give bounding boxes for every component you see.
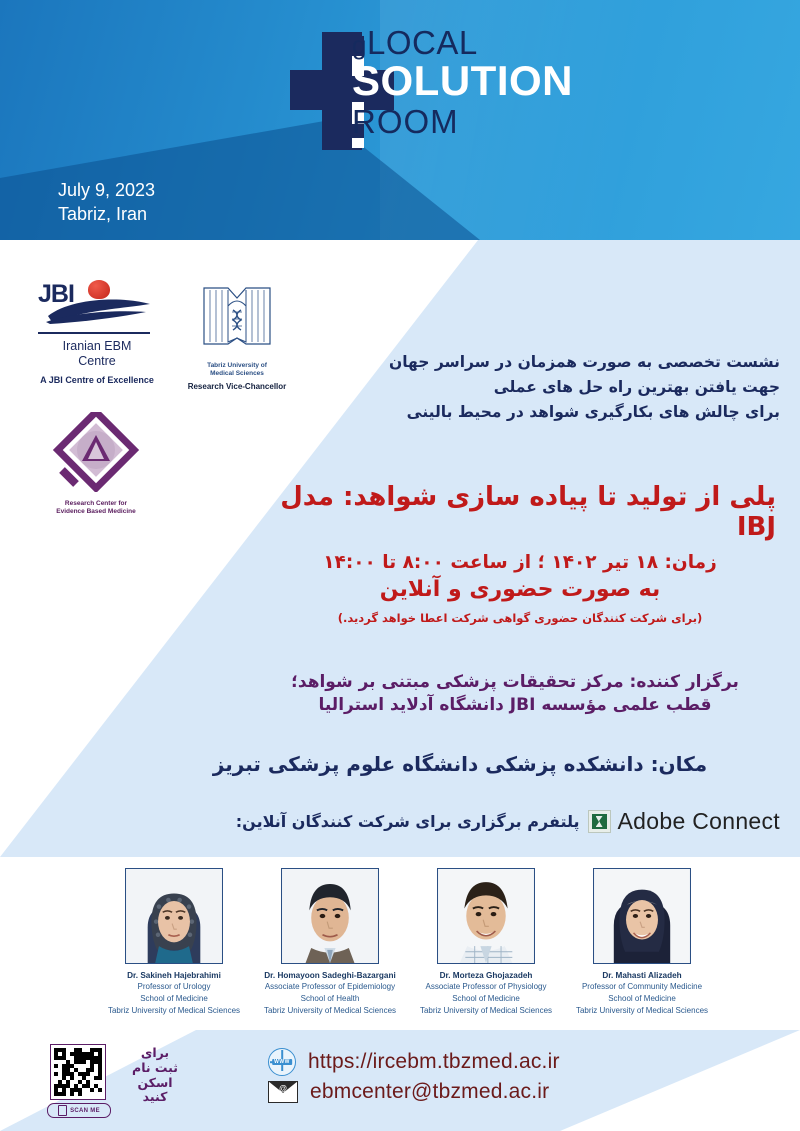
header-event-meta: July 9, 2023 Tabriz, Iran [58, 178, 155, 227]
speaker-card: Dr. Sakineh Hajebrahimi Professor of Uro… [98, 868, 250, 1030]
avatar [281, 868, 379, 964]
event-date: July 9, 2023 [58, 178, 155, 202]
scan-me-label: SCAN ME [70, 1108, 100, 1114]
intro-paragraph: نشست تخصصی به صورت همزمان در سراسر جهان … [310, 350, 780, 425]
avatar [593, 868, 691, 964]
event-title: پلی از تولید تا پیاده سازی شواهد: مدل JB… [236, 482, 776, 542]
speaker-card: Dr. Homayoon Sadeghi-Bazargani Associate… [254, 868, 406, 1030]
speaker-role: Associate Professor of Epidemiology [254, 981, 406, 993]
speaker-university: Tabriz University of Medical Sciences [566, 1005, 718, 1017]
speaker-name: Dr. Homayoon Sadeghi-Bazargani [254, 971, 406, 980]
website-row[interactable]: WWW https://ircebm.tbzmed.ac.ir [268, 1048, 560, 1076]
speaker-school: School of Medicine [566, 993, 718, 1005]
speaker-card: Dr. Morteza Ghojazadeh Associate Profess… [410, 868, 562, 1030]
wordmark-solution: SOLUTION [352, 60, 652, 102]
platform-block: Adobe Connect پلتفرم برگزاری برای شرکت ک… [200, 808, 780, 835]
qr-registration-block[interactable]: SCAN ME برای ثبت نام اسکن کنید [50, 1044, 230, 1122]
email-address[interactable]: ebmcenter@tbzmed.ac.ir [310, 1080, 549, 1104]
wordmark-g: g [352, 30, 367, 60]
speaker-school: School of Health [254, 993, 406, 1005]
avatar [437, 868, 535, 964]
envelope-email-icon: @ [268, 1081, 298, 1103]
event-datetime-block: زمان: ۱۸ تیر ۱۴۰۲ ؛ از ساعت ۸:۰۰ تا ۱۴:۰… [260, 552, 780, 625]
event-location: Tabriz, Iran [58, 202, 155, 226]
speaker-role: Professor of Urology [98, 981, 250, 993]
scan-me-badge: SCAN ME [47, 1103, 111, 1118]
organizer-block: برگزار کننده: مرکز تحقیقات پزشکی مبتنی ب… [250, 672, 780, 715]
email-row[interactable]: @ ebmcenter@tbzmed.ac.ir [268, 1080, 560, 1104]
qr-text-line-1: برای [119, 1046, 191, 1061]
speaker-name: Dr. Sakineh Hajebrahimi [98, 971, 250, 980]
certificate-note: (برای شرکت کنندگان حضوری گواهی شرکت اعطا… [260, 611, 780, 625]
qr-text-line-4: کنید [119, 1090, 191, 1105]
poster-root: gLOCAL SOLUTION ROOM July 9, 2023 Tabriz… [0, 0, 800, 1131]
poster-footer: SCAN ME برای ثبت نام اسکن کنید WWW https… [0, 1030, 800, 1131]
event-mode-line: به صورت حضوری و آنلاین [260, 577, 780, 602]
email-at-label: @ [279, 1084, 287, 1093]
speaker-card: Dr. Mahasti Alizadeh Professor of Commun… [566, 868, 718, 1030]
speaker-school: School of Medicine [98, 993, 250, 1005]
wordmark-room: ROOM [352, 105, 652, 138]
speaker-name: Dr. Mahasti Alizadeh [566, 971, 718, 980]
speaker-university: Tabriz University of Medical Sciences [98, 1005, 250, 1017]
globe-label: WWW [272, 1059, 292, 1065]
website-url[interactable]: https://ircebm.tbzmed.ac.ir [308, 1050, 560, 1074]
avatar [125, 868, 223, 964]
qr-code[interactable] [50, 1044, 106, 1100]
qr-text-line-2: ثبت نام [119, 1061, 191, 1076]
speaker-university: Tabriz University of Medical Sciences [410, 1005, 562, 1017]
phone-icon [58, 1105, 67, 1116]
speaker-role: Professor of Community Medicine [566, 981, 718, 993]
platform-name: Adobe Connect [618, 808, 780, 835]
qr-instruction-text: برای ثبت نام اسکن کنید [119, 1044, 191, 1105]
poster-header: gLOCAL SOLUTION ROOM July 9, 2023 Tabriz… [0, 0, 800, 240]
venue-line: مکان: دانشکده پزشکی دانشگاه علوم پزشکی ت… [140, 752, 780, 776]
globe-www-icon: WWW [268, 1048, 296, 1076]
poster-content: نشست تخصصی به صورت همزمان در سراسر جهان … [0, 240, 800, 858]
qr-text-line-3: اسکن [119, 1076, 191, 1091]
wordmark-local: LOCAL [367, 24, 478, 61]
speaker-name: Dr. Morteza Ghojazadeh [410, 971, 562, 980]
adobe-connect-logo: Adobe Connect [588, 808, 780, 835]
speakers-row: Dr. Sakineh Hajebrahimi Professor of Uro… [98, 858, 718, 1030]
event-time-line: زمان: ۱۸ تیر ۱۴۰۲ ؛ از ساعت ۸:۰۰ تا ۱۴:۰… [260, 552, 780, 573]
intro-line-3: برای چالش های بکارگیری شواهد در محیط بال… [310, 400, 780, 425]
glocal-wordmark: gLOCAL SOLUTION ROOM [352, 26, 652, 138]
organizer-line-1: برگزار کننده: مرکز تحقیقات پزشکی مبتنی ب… [250, 672, 780, 692]
speaker-school: School of Medicine [410, 993, 562, 1005]
intro-line-1: نشست تخصصی به صورت همزمان در سراسر جهان [310, 350, 780, 375]
intro-line-2: جهت یافتن بهترین راه حل های عملی [310, 375, 780, 400]
organizer-line-2: قطب علمی مؤسسه JBI دانشگاه آدلاید استرال… [250, 695, 780, 715]
speaker-role: Associate Professor of Physiology [410, 981, 562, 993]
adobe-connect-icon [588, 810, 611, 833]
speaker-university: Tabriz University of Medical Sciences [254, 1005, 406, 1017]
contact-block: WWW https://ircebm.tbzmed.ac.ir @ ebmcen… [268, 1048, 560, 1108]
platform-label: پلتفرم برگزاری برای شرکت کنندگان آنلاین: [236, 812, 580, 831]
